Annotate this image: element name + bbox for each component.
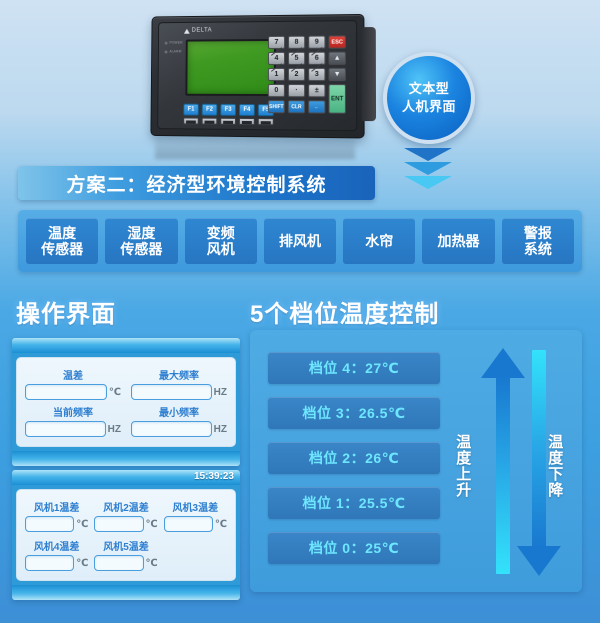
- unit-label: ℃: [76, 558, 88, 569]
- input-current-frequency[interactable]: [25, 421, 106, 437]
- operation-panel-frequency: 温差 ℃ 最大频率 HZ 当前频率 HZ: [12, 338, 240, 466]
- field-row: HZ: [25, 421, 121, 437]
- input-fan-1-temp-diff[interactable]: [25, 516, 74, 532]
- unit-label: ℃: [76, 519, 88, 530]
- frequency-field-grid: 温差 ℃ 最大频率 HZ 当前频率 HZ: [25, 367, 227, 437]
- gear-control-heading: 5个档位温度控制: [250, 294, 439, 329]
- input-min-frequency[interactable]: [131, 421, 212, 437]
- field-fan-5-temp-diff: 风机5温差 ℃: [94, 538, 157, 571]
- input-fan-5-temp-diff[interactable]: [94, 555, 143, 571]
- field-label: 风机3温差: [164, 499, 227, 514]
- unit-label: ℃: [146, 519, 158, 530]
- key-5[interactable]: 5: [288, 52, 305, 65]
- field-fan-4-temp-diff: 风机4温差 ℃: [25, 538, 88, 571]
- key-7[interactable]: 7: [268, 36, 285, 49]
- chip-line-1: 变频: [207, 225, 235, 241]
- gear-item-2[interactable]: 档位 2：26℃: [268, 442, 440, 474]
- operation-panel-fans: 15:39:23 风机1温差 ℃ 风机2温差 ℃ 风机3温差: [12, 470, 240, 600]
- function-key-f1[interactable]: F1: [183, 104, 199, 116]
- led-alarm: ALARM: [165, 49, 186, 53]
- delta-triangle-icon: [184, 28, 190, 33]
- chip-line-2: 风机: [207, 241, 235, 257]
- hmi-type-badge: 文本型 人机界面: [383, 52, 475, 144]
- gear-control-panel: 档位 4：27℃ 档位 3：26.5℃ 档位 2：26℃ 档位 1：25.5℃ …: [250, 330, 582, 592]
- lcd-screen: [185, 39, 276, 96]
- gear-item-3[interactable]: 档位 3：26.5℃: [268, 397, 440, 429]
- key-9[interactable]: 9: [308, 36, 325, 49]
- function-key-row: F1 F2 F3 F4 F5: [183, 104, 274, 126]
- temperature-rise-label: 温度上升: [454, 434, 470, 498]
- field-min-frequency: 最小频率 HZ: [131, 404, 227, 437]
- function-key-f1-label-strip: [183, 117, 199, 124]
- field-label: 最大频率: [131, 367, 227, 382]
- arrow-up-shaft: [496, 376, 510, 574]
- gear-item-0[interactable]: 档位 0：25℃: [268, 532, 440, 564]
- field-row: ℃: [25, 384, 121, 400]
- key-0[interactable]: 0: [268, 84, 285, 97]
- badge-line-2: 人机界面: [402, 98, 456, 116]
- field-current-frequency: 当前频率 HZ: [25, 404, 121, 437]
- field-row: ℃: [94, 555, 157, 571]
- field-fan-3-temp-diff: 风机3温差 ℃: [164, 499, 227, 532]
- key-shift[interactable]: SHIFT: [268, 100, 285, 113]
- field-label: 风机2温差: [94, 499, 157, 514]
- chevron-down-group: [404, 148, 452, 189]
- key-enter[interactable]: ENT: [328, 84, 345, 114]
- chip-line-1: 警报: [524, 225, 552, 241]
- unit-label: ℃: [109, 387, 121, 398]
- chip-line-1: 温度: [48, 225, 76, 241]
- chevron-down-icon: [404, 176, 452, 189]
- key-4[interactable]: 4: [268, 52, 285, 65]
- gear-item-1[interactable]: 档位 1：25.5℃: [268, 487, 440, 519]
- input-temp-diff[interactable]: [25, 384, 107, 400]
- unit-label: HZ: [108, 424, 121, 435]
- unit-label: HZ: [214, 424, 227, 435]
- fan-field-grid: 风机1温差 ℃ 风机2温差 ℃ 风机3温差 ℃: [25, 499, 227, 571]
- field-label: 风机5温差: [94, 538, 157, 553]
- component-chip-vfd-fan[interactable]: 变频 风机: [185, 218, 257, 264]
- delta-logo: DELTA: [184, 28, 212, 34]
- led-alarm-label: ALARM: [169, 49, 181, 53]
- field-row: ℃: [25, 516, 88, 532]
- temperature-fall-label: 温度下降: [546, 434, 562, 498]
- hmi-device: DELTA POWER ALARM F1 F2: [150, 14, 364, 139]
- fan-grid-spacer: [164, 538, 227, 571]
- panel-header-bar: [12, 338, 240, 353]
- key-arrow-down-icon[interactable]: ▼: [328, 68, 345, 81]
- field-label: 最小频率: [131, 404, 227, 419]
- numeric-keypad: 7 8 9 ESC 4 5 6 ▲ 1 2 3 ▼ 0 · ± ENT SHIF…: [268, 35, 346, 113]
- led-power: POWER: [165, 41, 186, 45]
- component-chip-exhaust-fan[interactable]: 排风机: [264, 218, 336, 264]
- panel-body: 风机1温差 ℃ 风机2温差 ℃ 风机3温差 ℃: [16, 489, 236, 581]
- field-fan-2-temp-diff: 风机2温差 ℃: [94, 499, 157, 532]
- scheme-title-banner: 方案二：经济型环境控制系统: [18, 166, 375, 200]
- field-max-frequency: 最大频率 HZ: [131, 367, 227, 400]
- chip-line-1: 水帘: [365, 233, 393, 249]
- arrow-up-icon: [492, 348, 514, 574]
- function-key-f4-group[interactable]: F4: [239, 104, 255, 125]
- unit-label: ℃: [146, 558, 158, 569]
- device-side-panel: [361, 27, 376, 121]
- status-leds: POWER ALARM: [165, 41, 186, 59]
- input-fan-4-temp-diff[interactable]: [25, 555, 74, 571]
- field-label: 当前频率: [25, 404, 121, 419]
- unit-label: ℃: [215, 519, 227, 530]
- field-label: 风机4温差: [25, 538, 88, 553]
- chip-line-1: 排风机: [279, 233, 321, 249]
- field-row: ℃: [94, 516, 157, 532]
- field-fan-1-temp-diff: 风机1温差 ℃: [25, 499, 88, 532]
- gear-list: 档位 4：27℃ 档位 3：26.5℃ 档位 2：26℃ 档位 1：25.5℃ …: [268, 352, 440, 564]
- function-key-f5-label-strip: [258, 118, 274, 125]
- function-key-f3[interactable]: F3: [220, 104, 236, 116]
- key-1[interactable]: 1: [268, 68, 285, 81]
- field-row: HZ: [131, 421, 227, 437]
- key-3[interactable]: 3: [308, 68, 325, 81]
- field-row: ℃: [164, 516, 227, 532]
- brand-label: DELTA: [192, 28, 212, 34]
- chevron-down-icon: [404, 148, 452, 161]
- badge-line-1: 文本型: [409, 80, 450, 98]
- key-6[interactable]: 6: [308, 52, 325, 65]
- chip-line-1: 加热器: [438, 233, 480, 249]
- clock-display: 15:39:23: [194, 471, 234, 482]
- led-dot-icon: [165, 50, 168, 53]
- arrow-up-head: [481, 348, 525, 378]
- function-key-f3-group[interactable]: F3: [220, 104, 236, 125]
- key-plus-minus[interactable]: ±: [308, 84, 325, 97]
- component-chip-water-curtain[interactable]: 水帘: [343, 218, 415, 264]
- chip-line-2: 传感器: [120, 241, 162, 257]
- field-row: HZ: [131, 384, 227, 400]
- field-row: ℃: [25, 555, 88, 571]
- component-chip-humidity-sensor[interactable]: 湿度 传感器: [105, 218, 177, 264]
- key-backspace-icon[interactable]: ←: [308, 100, 325, 113]
- key-arrow-up-icon[interactable]: ▲: [329, 52, 346, 65]
- component-chip-alarm-system[interactable]: 警报 系统: [502, 218, 574, 264]
- gear-item-4[interactable]: 档位 4：27℃: [268, 352, 440, 384]
- input-fan-2-temp-diff[interactable]: [94, 516, 143, 532]
- key-8[interactable]: 8: [288, 36, 305, 49]
- function-key-f2-label-strip: [202, 118, 218, 125]
- hero-section: DELTA POWER ALARM F1 F2: [0, 0, 600, 160]
- function-key-f2-group[interactable]: F2: [202, 104, 218, 125]
- unit-label: HZ: [214, 387, 227, 398]
- function-key-f4-label-strip: [239, 118, 255, 125]
- function-key-f3-label-strip: [220, 118, 236, 125]
- panel-body: 温差 ℃ 最大频率 HZ 当前频率 HZ: [16, 357, 236, 447]
- function-key-f2[interactable]: F2: [202, 104, 218, 116]
- arrow-down-head: [517, 546, 561, 576]
- operation-interface-heading: 操作界面: [16, 294, 116, 329]
- input-max-frequency[interactable]: [131, 384, 212, 400]
- key-clear[interactable]: CLR: [288, 100, 305, 113]
- function-key-f4[interactable]: F4: [239, 104, 255, 116]
- device-bezel: DELTA POWER ALARM F1 F2: [157, 20, 357, 131]
- component-chip-heater[interactable]: 加热器: [422, 218, 494, 264]
- panel-footer-bar: [12, 451, 240, 466]
- chip-line-2: 传感器: [41, 241, 83, 257]
- key-decimal[interactable]: ·: [288, 84, 305, 97]
- arrow-down-shaft: [532, 350, 546, 548]
- temperature-direction-indicators: 温度上升 温度下降: [448, 346, 576, 582]
- panel-header-bar: 15:39:23: [12, 470, 240, 485]
- field-label: 风机1温差: [25, 499, 88, 514]
- component-chips-bar: 温度 传感器 湿度 传感器 变频 风机 排风机 水帘 加热器 警报 系统: [18, 210, 582, 272]
- led-dot-icon: [165, 41, 168, 44]
- field-temp-diff: 温差 ℃: [25, 367, 121, 400]
- input-fan-3-temp-diff[interactable]: [164, 516, 213, 532]
- led-power-label: POWER: [169, 41, 182, 45]
- function-key-f1-group[interactable]: F1: [183, 104, 199, 125]
- component-chip-temperature-sensor[interactable]: 温度 传感器: [26, 218, 98, 264]
- device-reflection: [155, 135, 355, 159]
- chip-line-2: 系统: [524, 241, 552, 257]
- panel-footer-bar: [12, 585, 240, 600]
- key-2[interactable]: 2: [288, 68, 305, 81]
- key-esc[interactable]: ESC: [329, 35, 346, 48]
- chevron-down-icon: [404, 162, 452, 175]
- field-label: 温差: [25, 367, 121, 382]
- chip-line-1: 湿度: [127, 225, 155, 241]
